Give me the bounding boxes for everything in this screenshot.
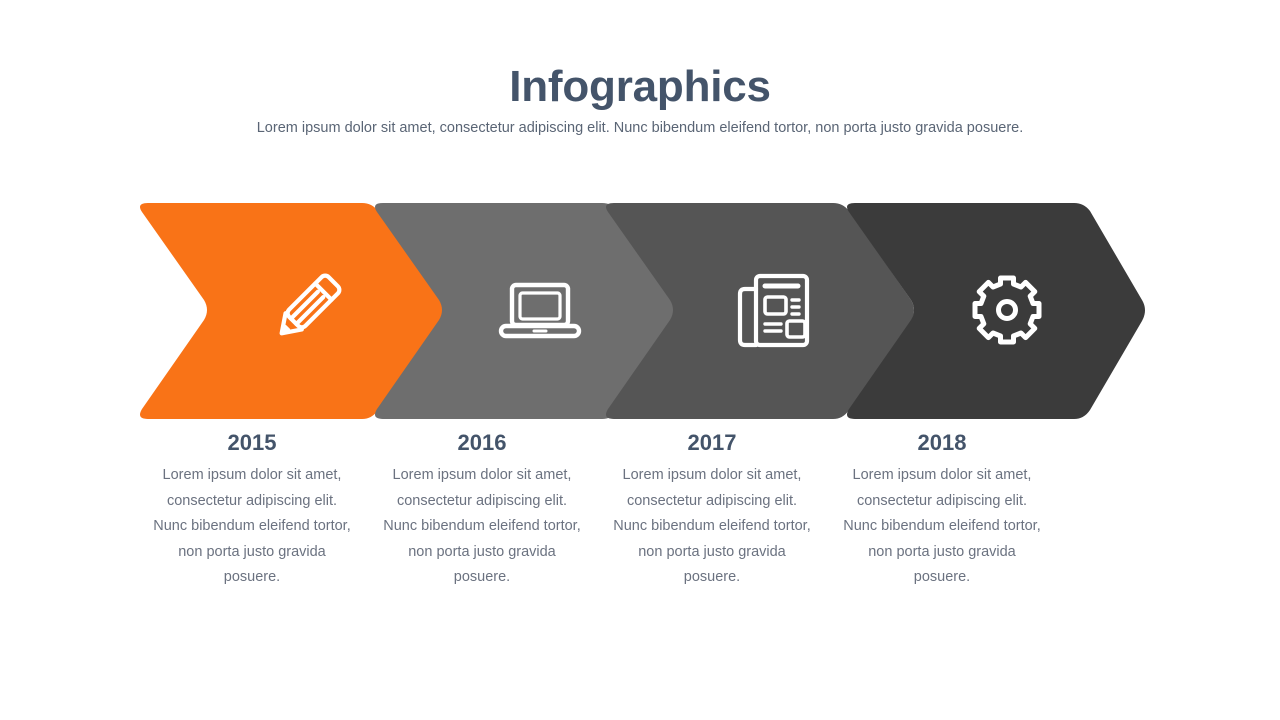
step-year-label: 2016 (367, 428, 597, 458)
step-year-label: 2015 (137, 428, 367, 458)
step-column-3: 2017 Lorem ipsum dolor sit amet, consect… (597, 428, 827, 628)
step-year-label: 2018 (827, 428, 1057, 458)
step-descriptions: 2015 Lorem ipsum dolor sit amet, consect… (0, 428, 1280, 628)
step-description: Lorem ipsum dolor sit amet, consectetur … (827, 463, 1057, 591)
step-column-2: 2016 Lorem ipsum dolor sit amet, consect… (367, 428, 597, 628)
page-subtitle: Lorem ipsum dolor sit amet, consectetur … (0, 120, 1280, 136)
step-column-4: 2018 Lorem ipsum dolor sit amet, consect… (827, 428, 1057, 628)
step-year-label: 2017 (597, 428, 827, 458)
page-title: Infographics (0, 62, 1280, 112)
step-description: Lorem ipsum dolor sit amet, consectetur … (367, 463, 597, 591)
step-column-1: 2015 Lorem ipsum dolor sit amet, consect… (137, 428, 367, 628)
chevron-process-diagram (0, 203, 1280, 419)
step-description: Lorem ipsum dolor sit amet, consectetur … (137, 463, 367, 591)
infographic-slide: Infographics Lorem ipsum dolor sit amet,… (0, 0, 1280, 720)
step-description: Lorem ipsum dolor sit amet, consectetur … (597, 463, 827, 591)
